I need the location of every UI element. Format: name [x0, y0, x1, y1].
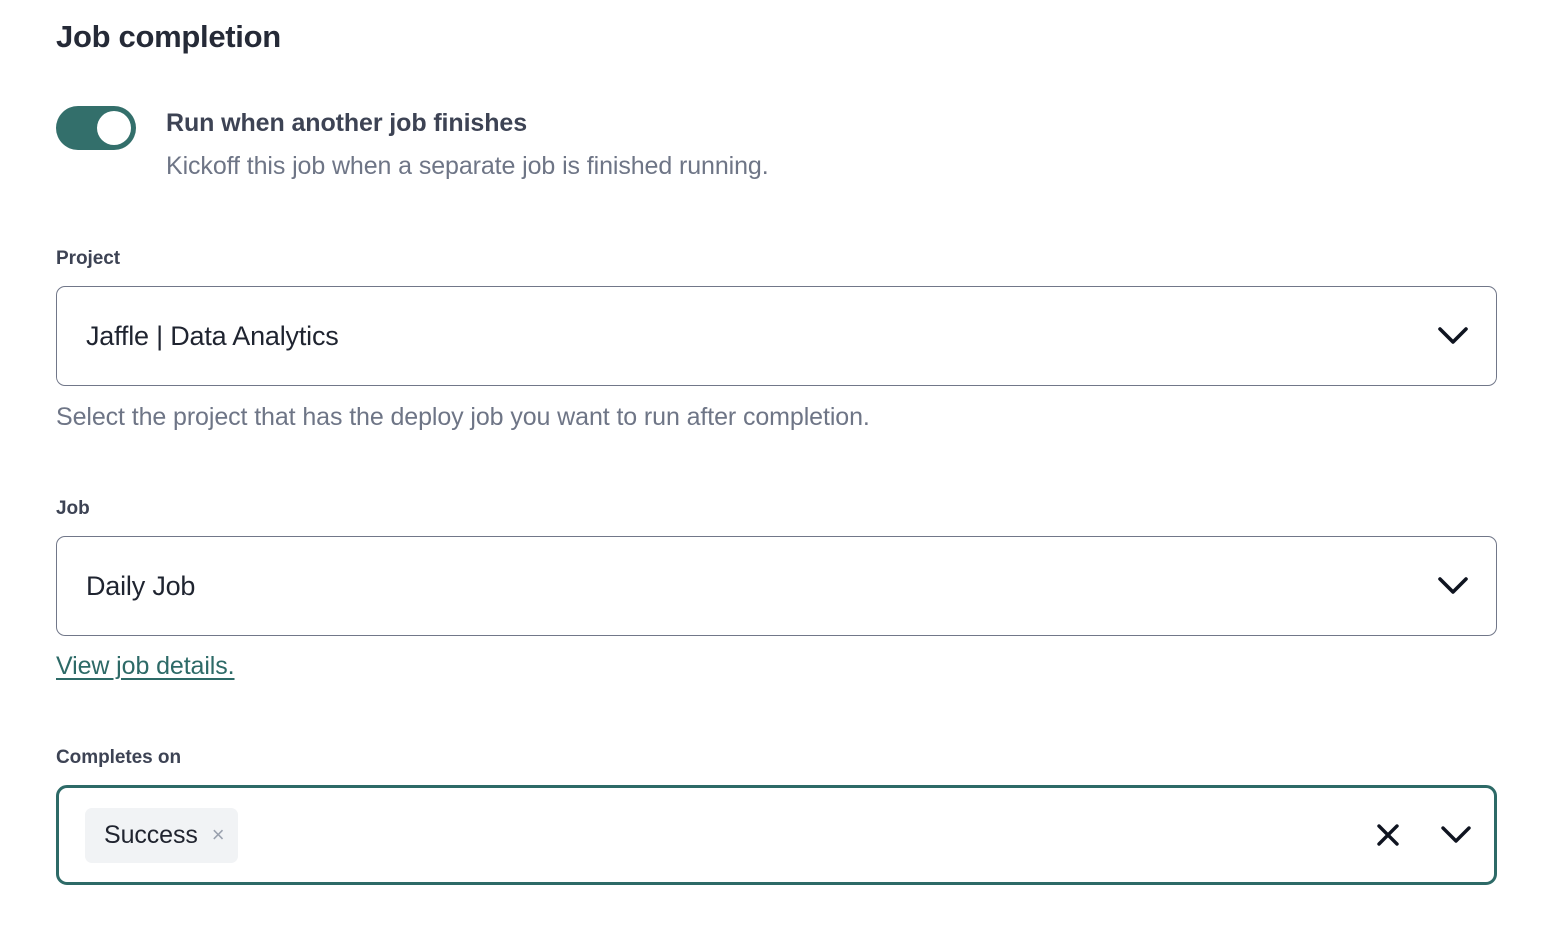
view-job-details-link[interactable]: View job details.: [56, 650, 235, 682]
job-selected-value: Daily Job: [86, 569, 195, 603]
toggle-text-block: Run when another job finishes Kickoff th…: [166, 106, 769, 182]
completes-on-multiselect[interactable]: Success ×: [56, 785, 1497, 885]
run-when-another-job-finishes-row: Run when another job finishes Kickoff th…: [56, 106, 769, 182]
multiselect-actions: [1372, 819, 1472, 851]
job-completion-panel: Job completion Run when another job fini…: [0, 0, 1564, 936]
chip-remove-icon[interactable]: ×: [212, 824, 225, 846]
completes-on-chip-success[interactable]: Success ×: [85, 808, 238, 863]
chip-label: Success: [104, 820, 198, 850]
toggle-description: Kickoff this job when a separate job is …: [166, 150, 769, 182]
project-field-group: Project Jaffle | Data Analytics Select t…: [56, 246, 1497, 433]
toggle-title: Run when another job finishes: [166, 107, 769, 139]
project-select[interactable]: Jaffle | Data Analytics: [56, 286, 1497, 386]
toggle-knob: [97, 111, 131, 145]
project-label: Project: [56, 246, 1497, 271]
page-title: Job completion: [56, 17, 281, 57]
job-field-group: Job Daily Job View job details.: [56, 496, 1497, 682]
completes-on-field-group: Completes on Success ×: [56, 745, 1497, 885]
project-help-text: Select the project that has the deploy j…: [56, 401, 1497, 433]
chevron-down-icon[interactable]: [1440, 819, 1472, 851]
clear-icon[interactable]: [1372, 819, 1404, 851]
job-select[interactable]: Daily Job: [56, 536, 1497, 636]
completes-on-label: Completes on: [56, 745, 1497, 770]
run-when-another-job-finishes-toggle[interactable]: [56, 106, 136, 150]
chevron-down-icon[interactable]: [1436, 319, 1470, 353]
job-label: Job: [56, 496, 1497, 521]
chevron-down-icon[interactable]: [1436, 569, 1470, 603]
project-selected-value: Jaffle | Data Analytics: [86, 319, 339, 353]
